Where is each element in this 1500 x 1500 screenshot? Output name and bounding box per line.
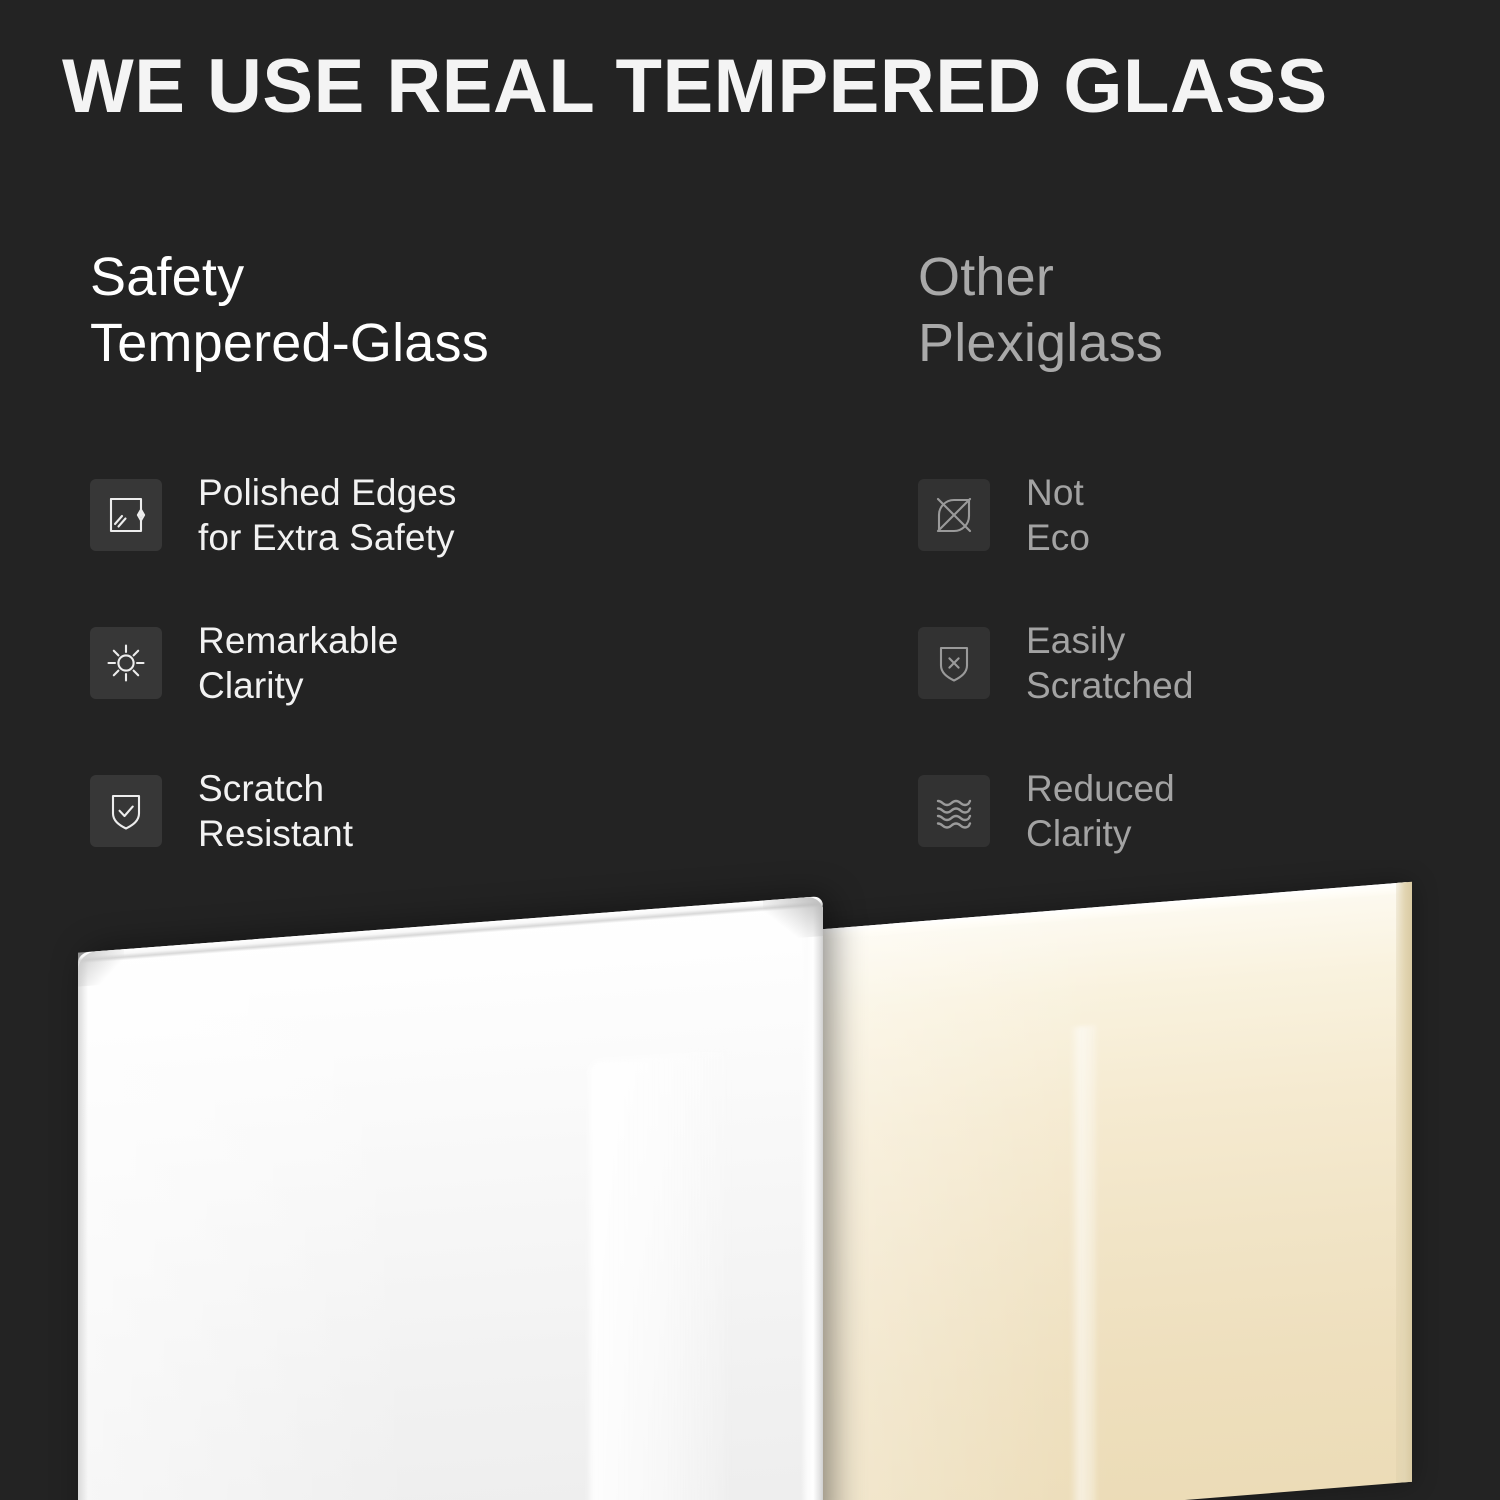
- glass-reflection-band: [590, 1051, 726, 1500]
- feature-row-easily-scratched: Easily Scratched: [918, 610, 1478, 716]
- product-photo: [0, 860, 1500, 1500]
- feature-row-not-eco: Not Eco: [918, 462, 1478, 568]
- plexi-right-edge: [1396, 882, 1412, 1483]
- feature-label: Not Eco: [1026, 470, 1090, 560]
- plexi-soft-glare: [812, 906, 1112, 1500]
- glass-corner-top-right: [763, 896, 823, 941]
- feature-list-left: Polished Edges for Extra Safety: [90, 462, 850, 906]
- shield-x-icon: [918, 627, 990, 699]
- column-other-plexiglass: Other Plexiglass Not Eco: [918, 244, 1478, 376]
- glass-polished-right-edge: [801, 896, 823, 1500]
- leaf-crossed-out-icon: [918, 479, 990, 551]
- page-title: WE USE REAL TEMPERED GLASS: [62, 44, 1452, 130]
- plexi-top-edge: [812, 882, 1412, 942]
- glass-corner-top-left: [78, 949, 124, 986]
- feature-label: Remarkable Clarity: [198, 618, 398, 708]
- feature-label: Reduced Clarity: [1026, 766, 1175, 856]
- feature-label: Easily Scratched: [1026, 618, 1194, 708]
- plexi-reflection-band: [1070, 1025, 1096, 1500]
- feature-row-polished-edges: Polished Edges for Extra Safety: [90, 462, 850, 568]
- feature-list-right: Not Eco Easily Scratched: [918, 462, 1478, 906]
- sun-brightness-icon: [90, 627, 162, 699]
- glass-left-edge: [78, 952, 88, 1500]
- feature-label: Scratch Resistant: [198, 766, 353, 856]
- shield-check-icon: [90, 775, 162, 847]
- feature-row-remarkable-clarity: Remarkable Clarity: [90, 610, 850, 716]
- polished-edge-sparkle-icon: [90, 479, 162, 551]
- feature-label: Polished Edges for Extra Safety: [198, 470, 457, 560]
- glass-soft-glare: [78, 927, 418, 1500]
- plexiglass-panel: [812, 882, 1412, 1500]
- comparison-infographic: WE USE REAL TEMPERED GLASS Safety Temper…: [0, 0, 1500, 1500]
- wavy-lines-icon: [918, 775, 990, 847]
- feature-row-reduced-clarity: Reduced Clarity: [918, 758, 1478, 864]
- tempered-glass-panel: [78, 896, 823, 1500]
- feature-row-scratch-resistant: Scratch Resistant: [90, 758, 850, 864]
- column-title-right: Other Plexiglass: [918, 244, 1478, 376]
- column-title-left: Safety Tempered-Glass: [90, 244, 850, 376]
- column-safety-tempered-glass: Safety Tempered-Glass Polished Edges for…: [90, 244, 850, 376]
- glass-polished-top-edge: [78, 896, 823, 964]
